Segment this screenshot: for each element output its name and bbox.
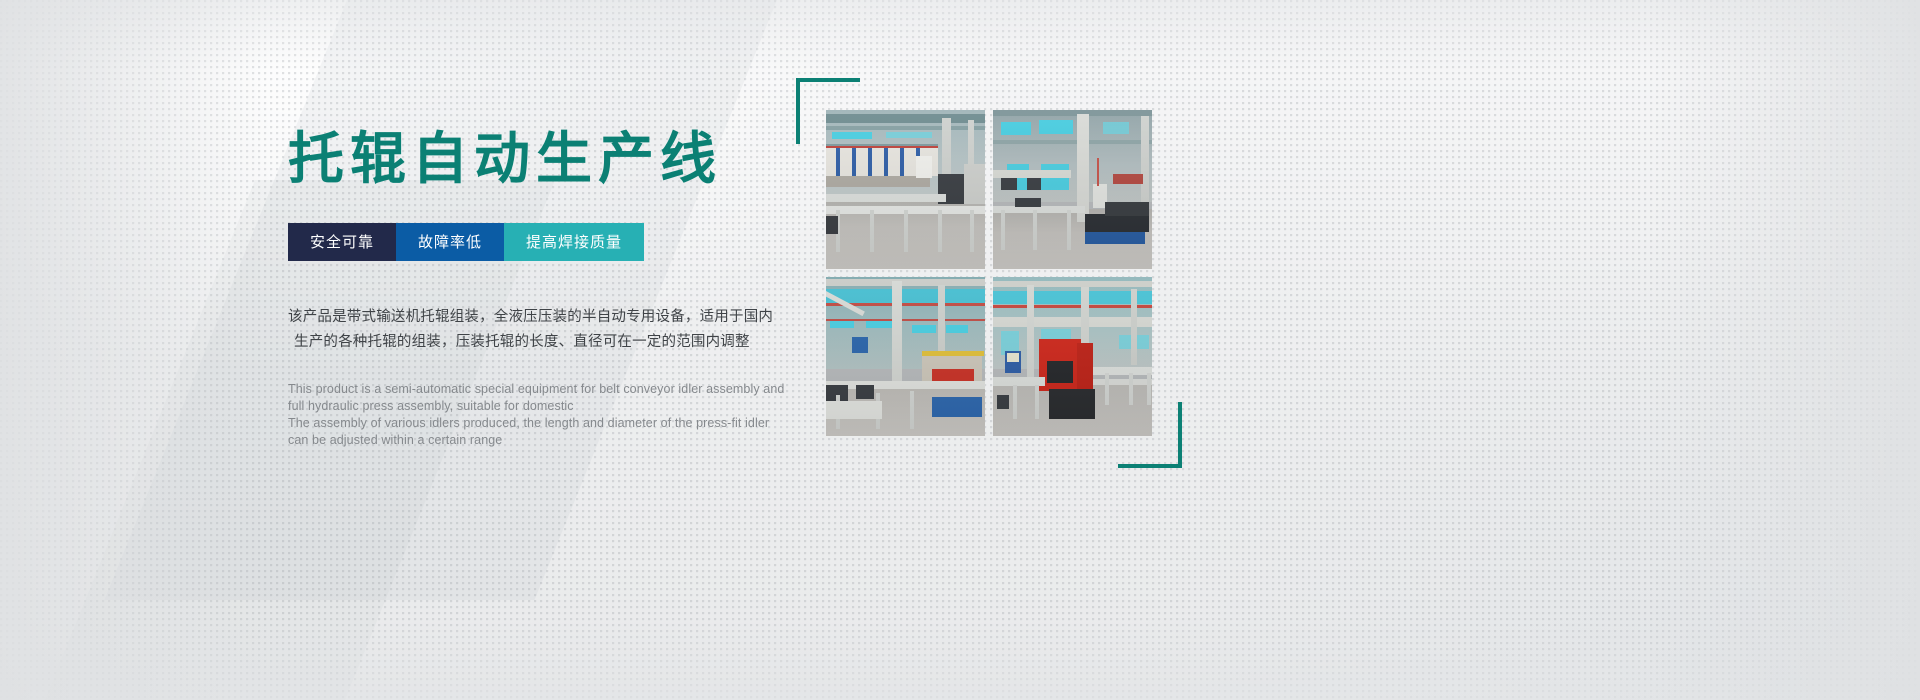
feature-tag-safety[interactable]: 安全可靠: [288, 223, 396, 261]
photo-grid: [826, 110, 1152, 436]
photo-roller-conveyor-line[interactable]: [826, 110, 985, 269]
description-chinese-line-1: 该产品是带式输送机托辊组装，全液压压装的半自动专用设备，适用于国内: [288, 305, 848, 330]
photo-workshop-interior[interactable]: [993, 110, 1152, 269]
page-title: 托辊自动生产线: [288, 128, 848, 191]
description-english-line-2: full hydraulic press assembly, suitable …: [288, 398, 848, 415]
feature-tag-failure-rate[interactable]: 故障率低: [396, 223, 504, 261]
text-column: 托辊自动生产线 安全可靠 故障率低 提高焊接质量 该产品是带式输送机托辊组装，全…: [288, 128, 848, 449]
feature-tag-row: 安全可靠 故障率低 提高焊接质量: [288, 223, 848, 261]
description-english-line-3: The assembly of various idlers produced,…: [288, 415, 848, 432]
description-chinese-line-2: 生产的各种托辊的组装，压装托辊的长度、直径可在一定的范围内调整: [288, 330, 848, 355]
description-english-line-4: can be adjusted within a certain range: [288, 432, 848, 449]
description-chinese: 该产品是带式输送机托辊组装，全液压压装的半自动专用设备，适用于国内 生产的各种托…: [288, 305, 848, 355]
photo-assembly-floor[interactable]: [826, 277, 985, 436]
description-english: This product is a semi-automatic special…: [288, 381, 848, 449]
banner-content: 托辊自动生产线 安全可靠 故障率低 提高焊接质量 该产品是带式输送机托辊组装，全…: [0, 0, 1920, 700]
description-english-line-1: This product is a semi-automatic special…: [288, 381, 848, 398]
product-banner: 托辊自动生产线 安全可靠 故障率低 提高焊接质量 该产品是带式输送机托辊组装，全…: [0, 0, 1920, 700]
photo-gallery: [826, 110, 1152, 436]
feature-tag-weld-quality[interactable]: 提高焊接质量: [504, 223, 644, 261]
photo-red-hydraulic-press[interactable]: [993, 277, 1152, 436]
